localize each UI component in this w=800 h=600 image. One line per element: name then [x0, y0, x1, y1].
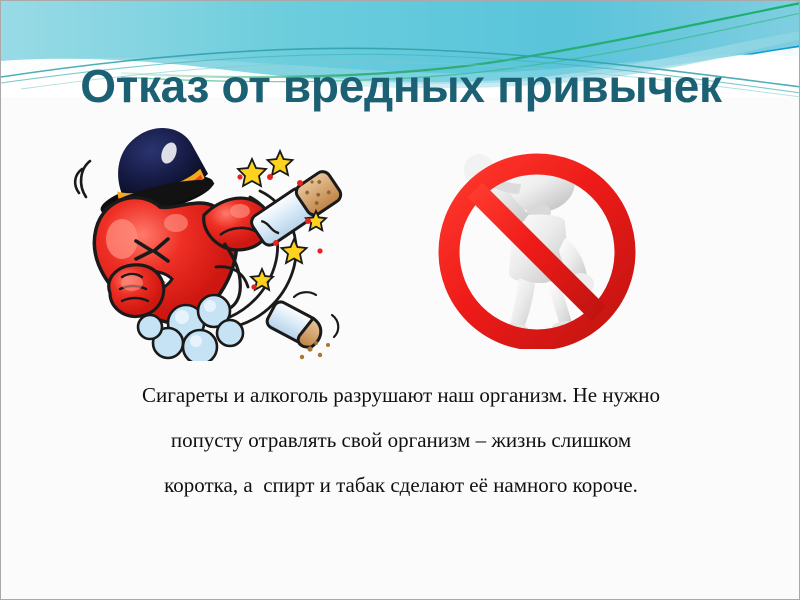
heart-highlight — [106, 219, 138, 259]
body-line-1: Сигареты и алкоголь разрушают наш органи… — [39, 373, 763, 418]
heart-punching-cigarette-image — [64, 111, 354, 361]
body-paragraph: Сигареты и алкоголь разрушают наш органи… — [39, 373, 763, 508]
heart-highlight-2 — [164, 214, 188, 232]
body-line-2: попусту отравлять свой организм – жизнь … — [39, 418, 763, 463]
page-title: Отказ от вредных привычек — [1, 59, 800, 113]
heart-fist-highlight — [121, 275, 143, 291]
no-alcohol-sign-image — [429, 134, 651, 349]
heart-fist — [109, 265, 164, 317]
presentation-slide: Отказ от вредных привычек — [0, 0, 800, 600]
body-line-3: коротка, а спирт и табак сделают её намн… — [39, 463, 763, 508]
heart-arm-highlight — [230, 204, 250, 218]
